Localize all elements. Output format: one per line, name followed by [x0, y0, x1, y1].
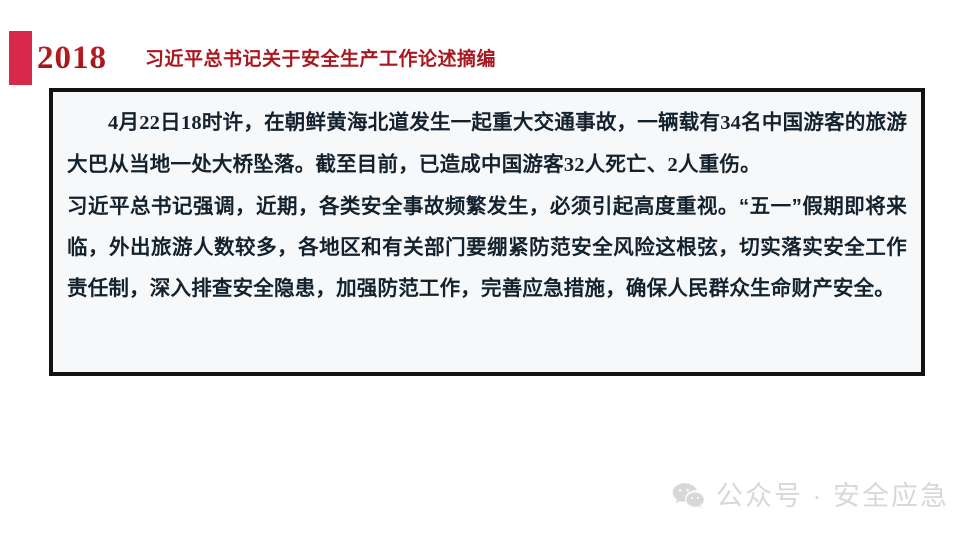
header-accent-bar: [9, 31, 32, 85]
slide-header: 2018 习近平总书记关于安全生产工作论述摘编: [0, 0, 960, 88]
content-body: 4月22日18时许，在朝鲜黄海北道发生一起重大交通事故，一辆载有34名中国游客的…: [53, 92, 921, 317]
header-year: 2018: [37, 38, 107, 78]
watermark-label: 公众号 · 安全应急: [716, 481, 949, 511]
content-paragraph: 4月22日18时许，在朝鲜黄海北道发生一起重大交通事故，一辆载有34名中国游客的…: [67, 102, 907, 186]
content-paragraph: 习近平总书记强调，近期，各类安全事故频繁发生，必须引起高度重视。“五一”假期即将…: [67, 186, 907, 309]
wechat-icon: [672, 482, 705, 511]
watermark: 公众号 · 安全应急: [672, 481, 949, 511]
page-title: 习近平总书记关于安全生产工作论述摘编: [145, 47, 496, 73]
content-box: 4月22日18时许，在朝鲜黄海北道发生一起重大交通事故，一辆载有34名中国游客的…: [49, 88, 925, 376]
